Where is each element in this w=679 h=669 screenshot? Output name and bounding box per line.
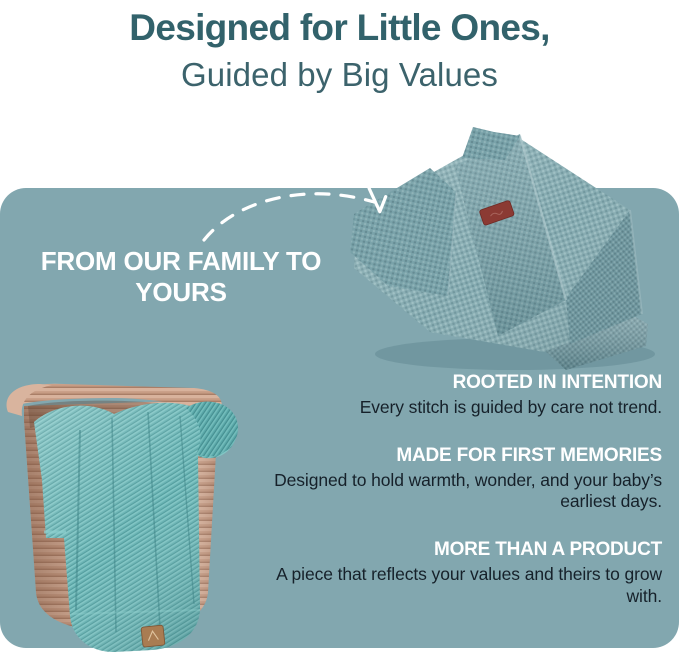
family-headline: FROM OUR FAMILY TO YOURS bbox=[36, 246, 326, 307]
page-title: Designed for Little Ones, bbox=[0, 9, 679, 46]
feature-body: Every stitch is guided by care not trend… bbox=[262, 397, 662, 419]
dashed-curved-arrow bbox=[196, 176, 426, 248]
feature-heading: ROOTED IN INTENTION bbox=[262, 372, 662, 394]
arrow-path bbox=[204, 194, 374, 240]
basket-blanket-image bbox=[0, 360, 294, 669]
folded-blanket-image bbox=[330, 118, 679, 380]
feature-heading: MORE THAN A PRODUCT bbox=[262, 539, 662, 561]
feature-item: MORE THAN A PRODUCT A piece that reflect… bbox=[262, 539, 662, 608]
feature-body: A piece that reflects your values and th… bbox=[262, 564, 662, 608]
feature-body: Designed to hold warmth, wonder, and you… bbox=[262, 470, 662, 514]
feature-item: MADE FOR FIRST MEMORIES Designed to hold… bbox=[262, 445, 662, 514]
leather-label-tag-tan bbox=[141, 625, 165, 647]
infographic-canvas: Designed for Little Ones, Guided by Big … bbox=[0, 0, 679, 669]
header: Designed for Little Ones, Guided by Big … bbox=[0, 0, 679, 91]
page-subtitle: Guided by Big Values bbox=[0, 58, 679, 91]
feature-heading: MADE FOR FIRST MEMORIES bbox=[262, 445, 662, 467]
feature-list: ROOTED IN INTENTION Every stitch is guid… bbox=[262, 372, 662, 608]
feature-item: ROOTED IN INTENTION Every stitch is guid… bbox=[262, 372, 662, 419]
